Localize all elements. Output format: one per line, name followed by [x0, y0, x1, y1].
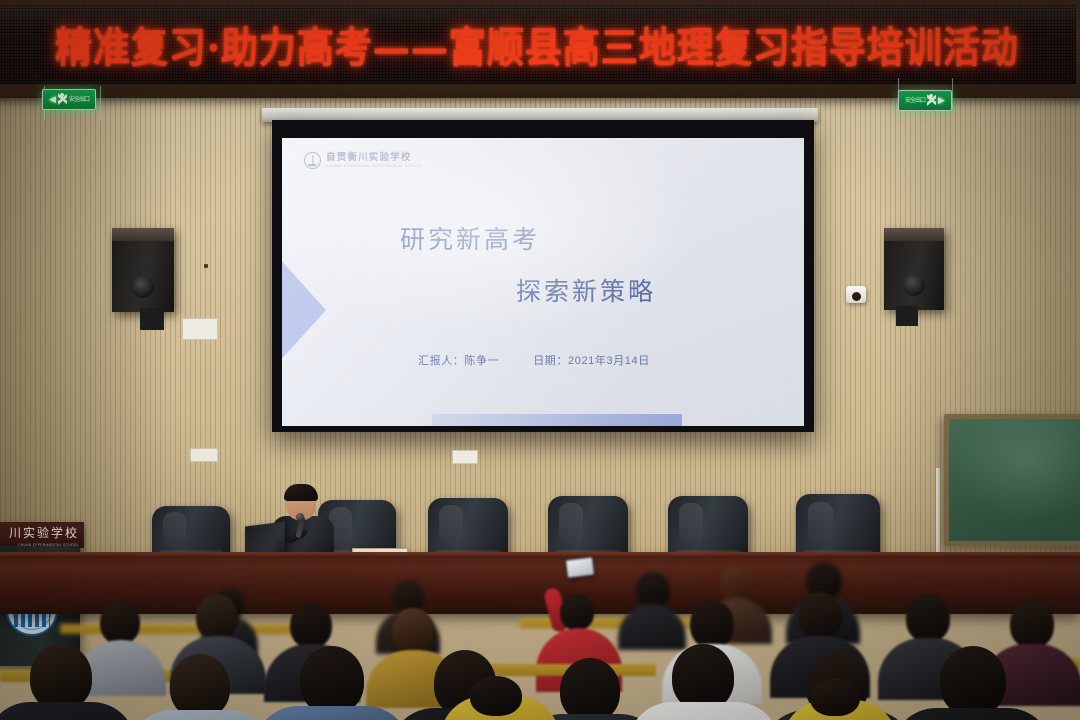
slide-school-logo: 自贡衡川实验学校 ZIGONG HENGCHUAN EXPERIMENTAL S… — [304, 152, 422, 169]
lecture-hall-photo: 精准复习·助力高考——富顺县高三地理复习指导培训活动 ◀ 安全出口 安全出口 ▶… — [0, 0, 1080, 720]
arrow-left-icon: ◀ — [49, 95, 56, 104]
wall-fixture-dot — [204, 264, 208, 268]
speaker-top-right — [884, 228, 944, 241]
speaker-cone-right — [903, 274, 925, 296]
led-banner-frame: 精准复习·助力高考——富顺县高三地理复习指导培训活动 — [0, 0, 1080, 98]
school-crest-icon — [304, 152, 321, 169]
projection-screen-surface: 自贡衡川实验学校 ZIGONG HENGCHUAN EXPERIMENTAL S… — [282, 138, 804, 426]
speaker-bracket-right — [896, 306, 918, 326]
wall-shadow-left — [0, 96, 170, 596]
presenter-hair — [284, 484, 318, 501]
exit-sign-left-label: 安全出口 — [69, 97, 89, 103]
smartphone-icon — [565, 556, 595, 578]
slide-logo-en: ZIGONG HENGCHUAN EXPERIMENTAL SCHOOL — [326, 165, 422, 168]
podium-name-sign: 川实验学校 CHUAN EXPERIMENTAL SCHOOL — [0, 522, 84, 548]
exit-sign-right: 安全出口 ▶ — [898, 90, 952, 111]
slide-title-line-2: 探索新策略 — [516, 272, 656, 308]
exit-sign-post-right-b — [952, 78, 953, 108]
slide-date-label: 日期：2021年3月14日 — [533, 352, 650, 368]
wall-plate-left — [182, 318, 218, 340]
slide-bottom-band — [432, 414, 682, 426]
audience-area — [0, 548, 1080, 720]
slide-meta-row: 汇报人：陈争一 日期：2021年3月14日 — [418, 352, 650, 368]
wall-outlet-center — [452, 450, 478, 464]
wall-mounted-camera-icon — [846, 286, 866, 303]
wall-outlet-left — [190, 448, 218, 462]
desk-back-left — [60, 624, 300, 634]
led-banner-screen: 精准复习·助力高考——富顺县高三地理复习指导培训活动 — [0, 4, 1076, 84]
exit-sign-left: ◀ 安全出口 — [42, 89, 96, 110]
podium-sign-cn: 川实验学校 — [9, 524, 79, 541]
slide-title-line-1: 研究新高考 — [400, 220, 540, 256]
wall-speaker-left — [112, 228, 174, 312]
speaker-cone-left — [132, 276, 154, 298]
microphone-head — [296, 513, 304, 521]
wall-speaker-right — [884, 228, 944, 310]
slide-presenter-label: 汇报人：陈争一 — [418, 352, 499, 368]
slide-chevron-graphic — [282, 224, 326, 396]
exit-sign-right-label: 安全出口 — [905, 98, 925, 104]
exit-sign-post-left-b — [100, 86, 101, 120]
exit-running-figure-icon — [58, 93, 67, 106]
speaker-bracket-left — [140, 308, 164, 330]
exit-running-figure-icon — [927, 94, 936, 107]
arrow-right-icon: ▶ — [938, 96, 945, 105]
speaker-top-left — [112, 228, 174, 241]
led-banner-text: 精准复习·助力高考——富顺县高三地理复习指导培训活动 — [55, 14, 1019, 74]
slide-logo-cn: 自贡衡川实验学校 — [326, 153, 422, 163]
green-chalkboard — [944, 414, 1080, 546]
